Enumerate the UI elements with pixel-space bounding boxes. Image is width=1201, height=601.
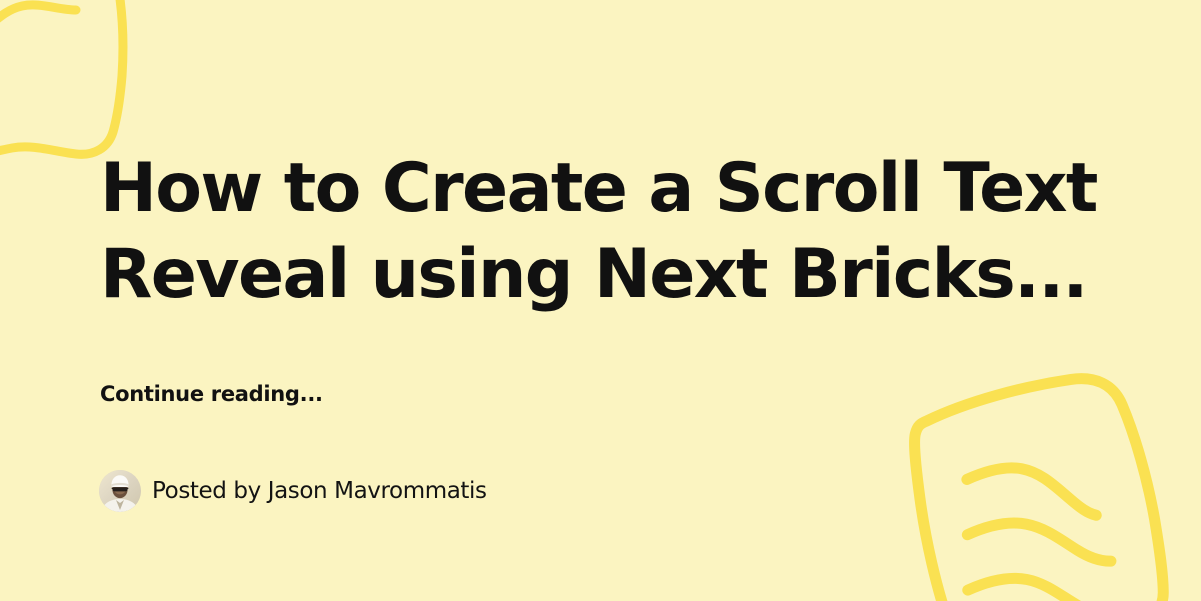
byline-author-label: Posted by Jason Mavrommatis [152, 476, 487, 506]
post-title: How to Create a Scroll Text Reveal using… [100, 146, 1110, 318]
avatar [99, 470, 141, 512]
note-doodle-bottom-right-icon [882, 352, 1201, 601]
social-share-card: How to Create a Scroll Text Reveal using… [0, 0, 1201, 601]
continue-reading-label[interactable]: Continue reading... [100, 380, 323, 408]
byline: Posted by Jason Mavrommatis [99, 470, 487, 512]
